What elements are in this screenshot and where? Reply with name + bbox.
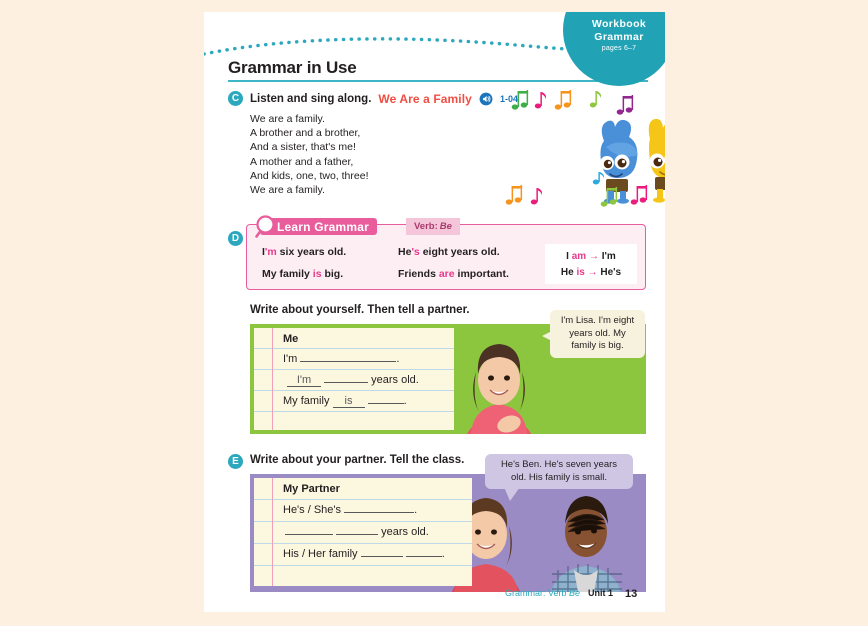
speech-bubble-lisa: I'm Lisa. I'm eight years old. My family… <box>550 310 645 358</box>
notebook-2-line-1: He's / She's . <box>283 504 417 516</box>
footer-page-number: 13 <box>625 588 637 600</box>
music-notes-bottom <box>504 172 664 214</box>
nb1-l2-fill[interactable]: I'm <box>287 374 321 387</box>
c1-verb: am <box>572 251 586 262</box>
lyric-line: A mother and a father, <box>250 155 368 169</box>
nb2-l3-suffix: . <box>442 548 445 560</box>
lyric-line: We are a family. <box>250 183 368 197</box>
nb2-l3-prefix: His / Her family <box>283 548 358 560</box>
nb1-l3-suffix: . <box>404 395 407 407</box>
ex1-post: six years old. <box>277 246 346 258</box>
badge-line-1: Workbook <box>563 18 665 31</box>
marker-e: E <box>228 454 243 469</box>
learn-grammar-box: Verb: Be Learn Grammar I'm six years old… <box>246 218 646 290</box>
ex3-pre: He <box>398 246 411 258</box>
lyric-line: A brother and a brother, <box>250 126 368 140</box>
nb1-l3-blank[interactable] <box>368 403 404 404</box>
ex3-hl: 's <box>411 246 419 258</box>
photo-girl-pink-shirt <box>449 324 549 434</box>
ex2-hl: is <box>313 268 322 280</box>
grammar-example-4: Friends are important. <box>398 268 509 280</box>
notebook-1-line-1: I'm . <box>283 353 399 365</box>
marker-d: D <box>228 231 243 246</box>
c1-subject: I <box>566 251 569 262</box>
nb2-l3-blank2[interactable] <box>406 556 442 557</box>
nb2-l3-blank1[interactable] <box>361 556 403 557</box>
speech-bubble-ben: He's Ben. He's seven years old. His fami… <box>485 454 633 489</box>
nb2-l1-suffix: . <box>414 504 417 516</box>
magnifier-icon <box>254 214 278 239</box>
footer-unit: Unit 1 <box>588 588 613 598</box>
nb1-l2-blank[interactable] <box>324 382 368 383</box>
ex2-post: big. <box>322 268 344 280</box>
speech-bubble-ben-tail <box>504 487 520 501</box>
notebook-2-line-3: His / Her family . <box>283 548 445 560</box>
notebook-1-title: Me <box>283 333 298 345</box>
verb-label: Verb: <box>414 221 438 232</box>
footer-grammar-text: Grammar: Verb <box>505 588 567 598</box>
notebook-2-line-2: years old. <box>285 526 429 538</box>
lyric-line: And a sister, that's me! <box>250 140 368 154</box>
nb2-l2-suffix: years old. <box>381 526 429 538</box>
ex4-hl: are <box>439 268 455 280</box>
marker-c: C <box>228 91 243 106</box>
verb-value: Be <box>440 221 452 232</box>
c2-verb: is <box>576 267 584 278</box>
notebook-2[interactable]: My Partner He's / She's . years old. His… <box>254 478 472 586</box>
nb1-l3-prefix: My family <box>283 395 329 407</box>
nb1-l1-suffix: . <box>396 353 399 365</box>
ex3-post: eight years old. <box>420 246 500 258</box>
contraction-row-2: He is → He's <box>561 267 621 278</box>
contraction-row-1: I am → I'm <box>566 251 616 262</box>
exercise-2-heading: Write about your partner. Tell the class… <box>250 454 464 466</box>
photo-boy-plaid-shirt <box>534 478 639 592</box>
grammar-example-1: I'm six years old. <box>262 246 346 258</box>
c2-subject: He <box>561 267 574 278</box>
song-lyrics: We are a family. A brother and a brother… <box>250 112 368 197</box>
ex4-post: important. <box>455 268 509 280</box>
c1-arrow-icon: → <box>589 251 599 262</box>
c2-arrow-icon: → <box>588 267 598 278</box>
ex4-pre: Friends <box>398 268 439 280</box>
learn-grammar-title: Learn Grammar <box>277 220 369 234</box>
notebook-1-line-3: My family is . <box>283 395 407 408</box>
nb1-l1-blank[interactable] <box>300 361 396 362</box>
ex2-pre: My family <box>262 268 313 280</box>
grammar-example-2: My family is big. <box>262 268 343 280</box>
lyric-line: We are a family. <box>250 112 368 126</box>
c2-result: He's <box>600 267 621 278</box>
workbook-badge: Workbook Grammar pages 6–7 <box>563 12 665 86</box>
page-title: Grammar in Use <box>228 58 357 78</box>
title-underline <box>228 80 648 82</box>
notebook-1-line-2: I'm years old. <box>287 374 419 387</box>
speech-bubble-lisa-tail <box>542 330 554 342</box>
verb-label-tab: Verb: Be <box>406 218 460 235</box>
nb1-l1-prefix: I'm <box>283 353 297 365</box>
nb2-l2-blank1[interactable] <box>285 534 333 535</box>
exercise-1-heading: Write about yourself. Then tell a partne… <box>250 304 470 316</box>
nb1-l2-suffix: years old. <box>371 374 419 386</box>
nb1-l3-fill[interactable]: is <box>333 395 365 408</box>
badge-pages: pages 6–7 <box>563 45 665 52</box>
notebook-2-title: My Partner <box>283 483 340 495</box>
lyric-line: And kids, one, two, three! <box>250 169 368 183</box>
grammar-example-3: He's eight years old. <box>398 246 500 258</box>
c1-result: I'm <box>602 251 616 262</box>
ex1-hl: 'm <box>265 246 277 258</box>
nb2-l1-blank[interactable] <box>344 512 414 513</box>
notebook-1[interactable]: Me I'm . I'm years old. My family is . <box>254 328 454 430</box>
nb2-l1-prefix: He's / She's <box>283 504 341 516</box>
footer-grammar-italic: Be <box>569 588 580 598</box>
contraction-card: I am → I'm He is → He's <box>545 244 637 284</box>
nb2-l2-blank2[interactable] <box>336 534 378 535</box>
speaker-icon[interactable] <box>479 92 493 106</box>
song-title: We Are a Family <box>378 92 472 106</box>
section-c-instruction-row: C Listen and sing along. We Are a Family… <box>228 91 518 106</box>
section-c-instruction: Listen and sing along. <box>250 93 371 105</box>
footer-grammar-label: Grammar: Verb Be <box>505 588 580 598</box>
workbook-page: Workbook Grammar pages 6–7 Grammar in Us… <box>204 12 665 612</box>
badge-line-2: Grammar <box>563 31 665 44</box>
